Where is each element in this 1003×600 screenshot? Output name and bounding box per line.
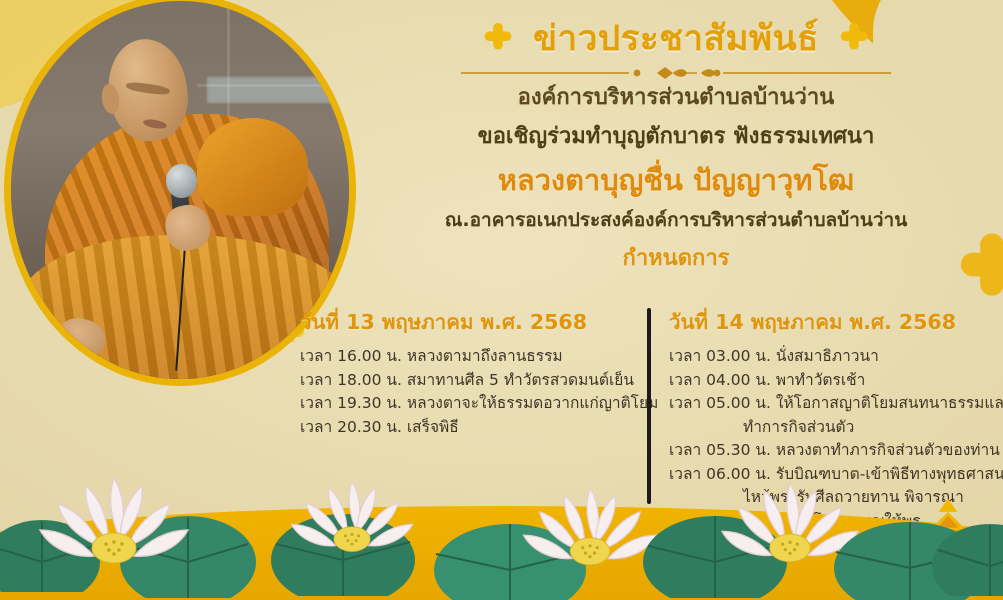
quatrefoil-icon: [837, 22, 871, 56]
lotus-flower: [24, 456, 204, 586]
title-row: ข่าวประชาสัมพันธ์: [366, 18, 986, 61]
schedule-item: เวลา 04.00 น. พาทำวัตรเช้า: [669, 369, 990, 393]
monk-name: หลวงตาบุญชื่น ปัญญาวุทโฒ: [366, 160, 986, 201]
schedule-item: เวลา 05.00 น. ให้โอกาสญาติโยมสนทนาธรรมแล…: [669, 392, 990, 416]
schedule-item: เวลา 18.00 น. สมาทานศีล 5 ทำวัตรสวดมนต์เ…: [300, 369, 625, 393]
schedule-item: เวลา 05.30 น. หลวงตาทำภารกิจส่วนตัวของท่…: [669, 439, 990, 463]
lotus-flower: [278, 464, 426, 571]
schedule-item: เวลา 03.00 น. นั่งสมาธิภาวนา: [669, 345, 990, 369]
monk-shoulder: [197, 118, 309, 216]
header-block: ข่าวประชาสัมพันธ์ องค์การบริหารส่วนตำบลบ…: [366, 18, 986, 275]
day1-heading: วันที่ 13 พฤษภาคม พ.ศ. 2568: [300, 306, 625, 339]
invitation-line: ขอเชิญร่วมทำบุญตักบาตร ฟังธรรมเทศนา: [366, 120, 986, 153]
schedule-item: เวลา 20.30 น. เสร็จพิธี: [300, 416, 625, 440]
day2-heading: วันที่ 14 พฤษภาคม พ.ศ. 2568: [669, 306, 990, 339]
schedule-item: เวลา 19.30 น. หลวงตาจะให้ธรรมดอวากแก่ญาต…: [300, 392, 625, 416]
microphone-head: [166, 164, 196, 198]
schedule-item-continuation: ทำการกิจส่วนตัว: [669, 416, 990, 440]
poster-canvas: ข่าวประชาสัมพันธ์ องค์การบริหารส่วนตำบลบ…: [0, 0, 1003, 600]
organization-name: องค์การบริหารส่วนตำบลบ้านว่าน: [366, 81, 986, 114]
lotus-leaf: [930, 506, 1003, 596]
quatrefoil-icon: [481, 22, 515, 56]
page-title: ข่าวประชาสัมพันธ์: [533, 18, 819, 61]
bottom-decoration: [0, 470, 1003, 600]
title-underline-ornament: [461, 64, 891, 76]
venue-line: ณ.อาคารอเนกประสงค์องค์การบริหารส่วนตำบลบ…: [366, 207, 986, 235]
schedule-item: เวลา 16.00 น. หลวงตามาถึงลานธรรม: [300, 345, 625, 369]
agenda-label: กำหนดการ: [366, 240, 986, 275]
